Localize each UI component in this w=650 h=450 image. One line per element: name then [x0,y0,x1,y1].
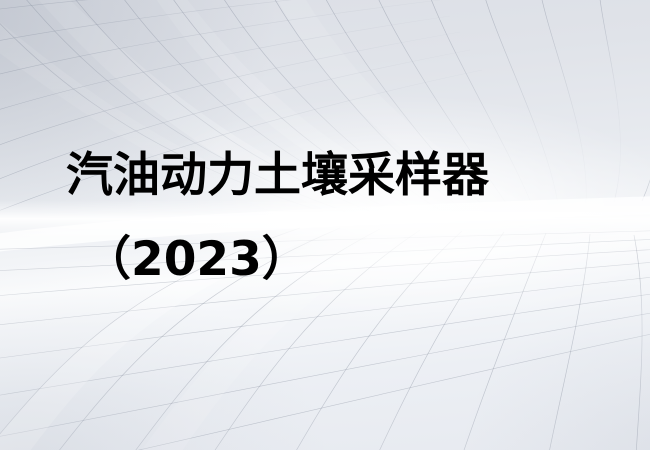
presentation-title-slide: 汽油动力土壤采样器 （2023） [0,0,650,450]
slide-title-line-1: 汽油动力土壤采样器 [66,148,489,204]
slide-title-line-2: （2023） [84,232,309,288]
slide-title-block: 汽油动力土壤采样器 （2023） [0,0,650,450]
